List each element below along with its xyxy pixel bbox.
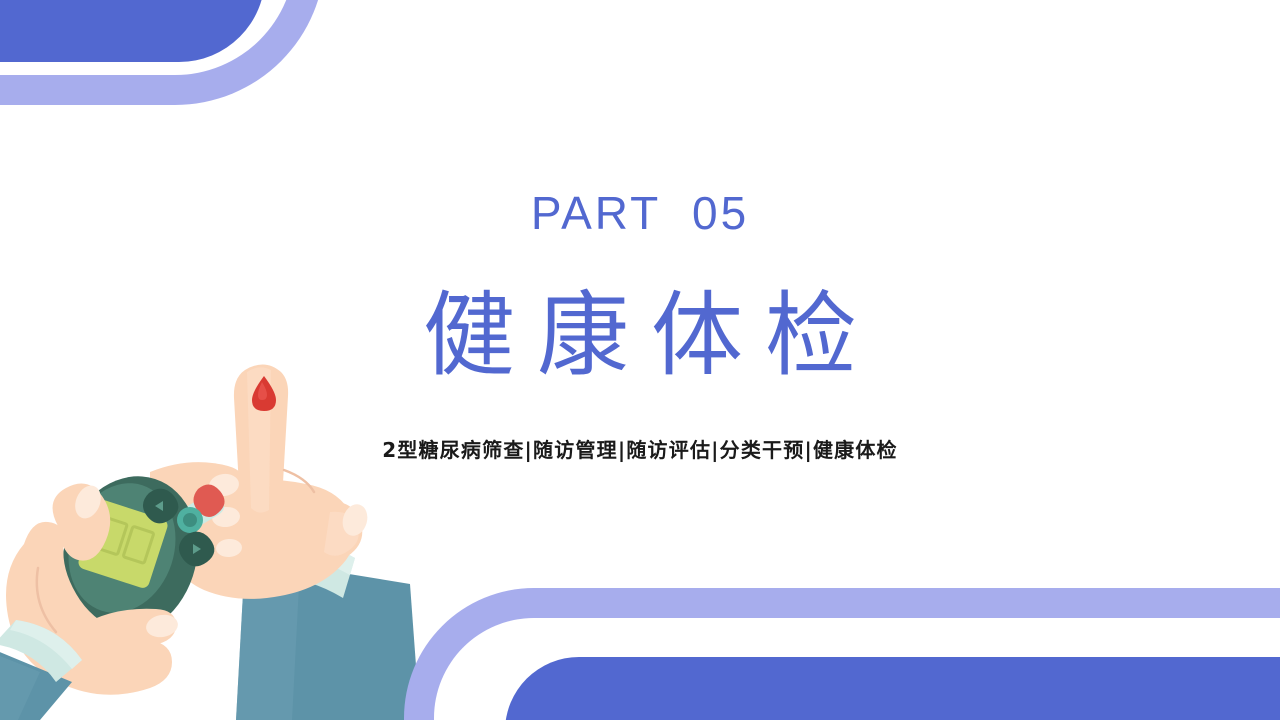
hands-with-glucometer-illustration [0,352,420,720]
slide-canvas: PART 05 健康体检 2型糖尿病筛查|随访管理|随访评估|分类干预|健康体检 [0,0,1280,720]
subtitle-text: 2型糖尿病筛查|随访管理|随访评估|分类干预|健康体检 [0,434,1280,463]
page-title: 健康体检 [0,286,1280,385]
top-left-solid-block [0,0,265,62]
top-left-light-arc [0,0,325,105]
bottom-right-solid-block [505,657,1280,720]
part-label: PART 05 [0,186,1280,240]
bottom-right-light-arc [404,588,1280,720]
